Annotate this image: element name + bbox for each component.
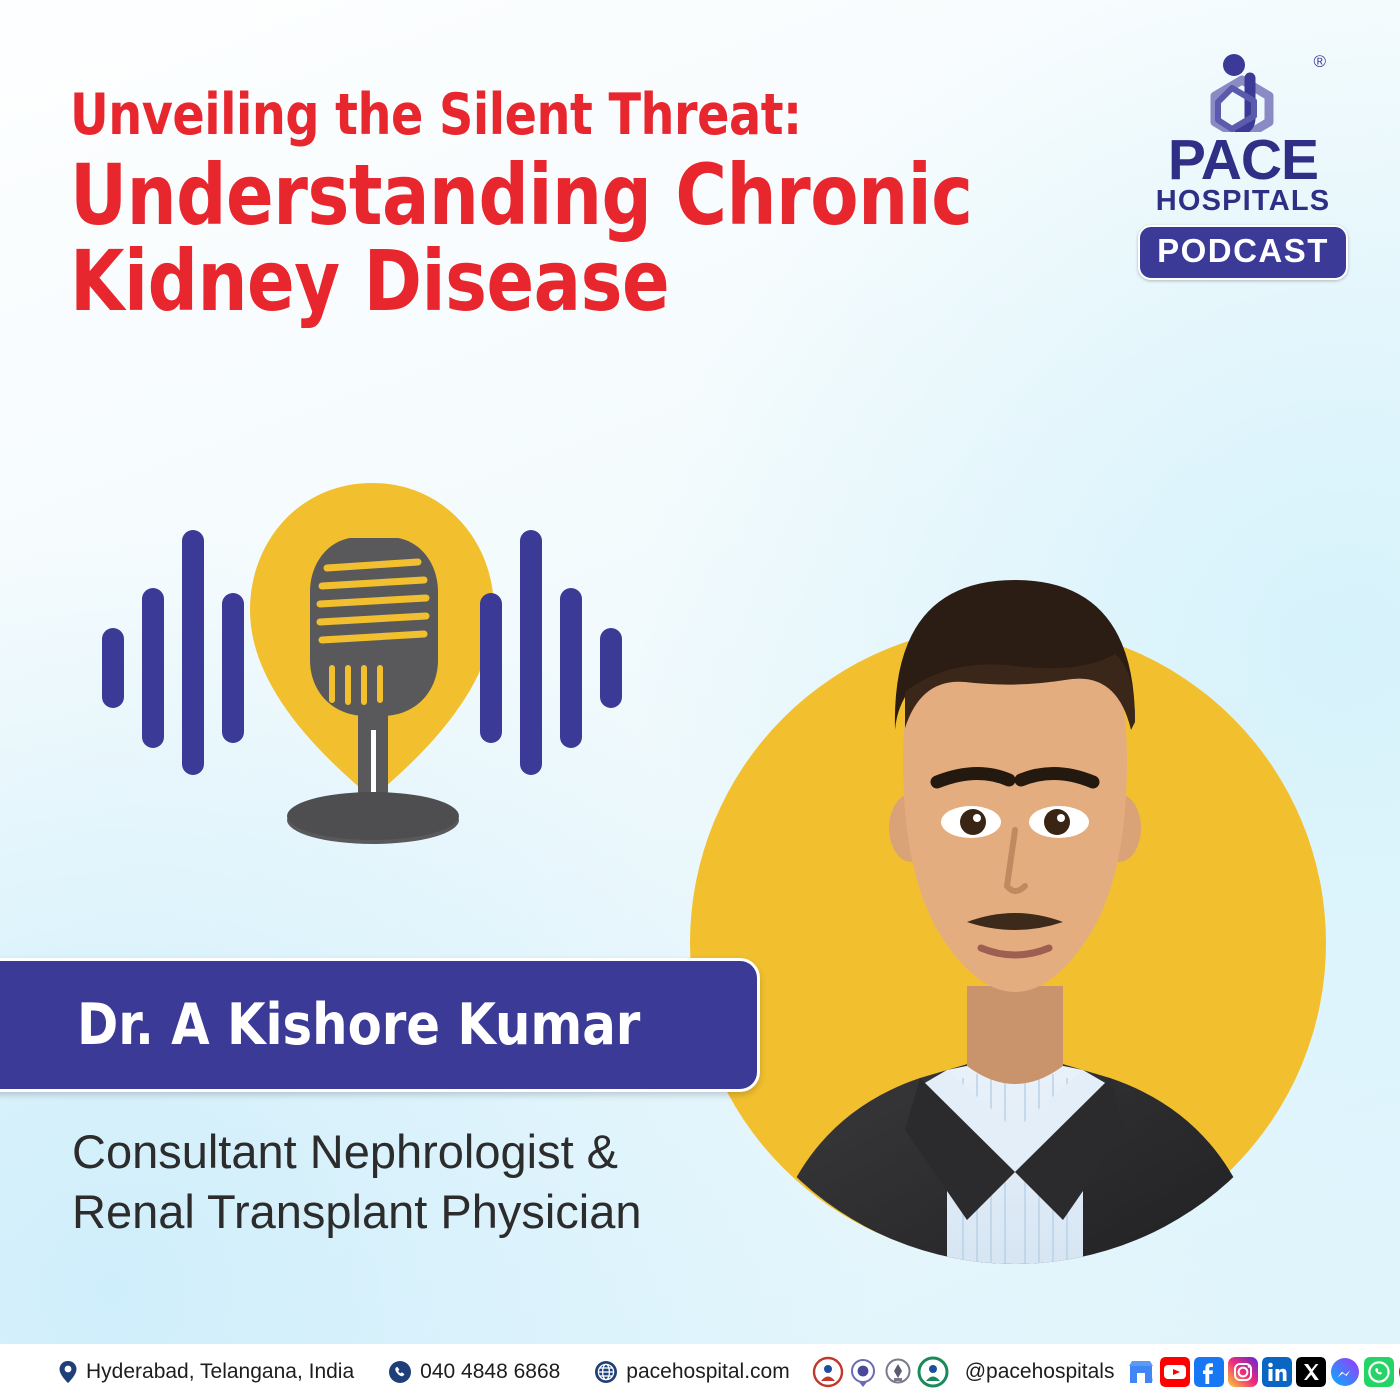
svg-text:G: G [1146, 1374, 1153, 1384]
wave-bar-left-3 [182, 530, 204, 775]
phone-icon [388, 1360, 412, 1384]
headline-line-2: Kidney Disease [70, 240, 1028, 322]
accreditation-seals [812, 1356, 949, 1388]
podcast-badge[interactable]: PODCAST [1138, 225, 1348, 280]
x-twitter-icon[interactable] [1296, 1357, 1326, 1387]
social-links: G [1126, 1357, 1400, 1387]
location-pin-icon [58, 1360, 78, 1384]
speaker-role-line-1: Consultant Nephrologist & [72, 1122, 772, 1182]
speaker-role: Consultant Nephrologist & Renal Transpla… [72, 1122, 772, 1242]
globe-icon [594, 1360, 618, 1384]
speaker-role-line-2: Renal Transplant Physician [72, 1182, 772, 1242]
iso-seal [882, 1356, 914, 1388]
green-accreditation-seal [917, 1356, 949, 1388]
speaker-name-banner: Dr. A Kishore Kumar [0, 958, 760, 1092]
registered-mark: ® [1313, 52, 1326, 72]
podcast-promo-poster: Unveiling the Silent Threat: Understandi… [0, 0, 1400, 1400]
nabh-seal [812, 1356, 844, 1388]
wave-bar-right-4 [600, 628, 622, 708]
youtube-icon[interactable] [1160, 1357, 1190, 1387]
instagram-icon[interactable] [1228, 1357, 1258, 1387]
whatsapp-icon[interactable] [1364, 1357, 1394, 1387]
headline-line-1: Understanding Chronic [70, 154, 1028, 236]
messenger-icon[interactable] [1330, 1357, 1360, 1387]
footer-bar: Hyderabad, Telangana, India 040 4848 686… [0, 1344, 1400, 1400]
headline-block: Unveiling the Silent Threat: Understandi… [70, 88, 1100, 326]
wave-bar-left-1 [102, 628, 124, 708]
footer-website-text: pacehospital.com [626, 1360, 789, 1384]
speaker-name: Dr. A Kishore Kumar [77, 992, 640, 1058]
footer-phone[interactable]: 040 4848 6868 [388, 1360, 560, 1384]
wave-bar-right-1 [480, 593, 502, 743]
wave-bar-right-2 [520, 530, 542, 775]
logo-sub-wordmark: HOSPITALS [1138, 187, 1348, 216]
pace-hospitals-logo[interactable]: ® PACE HOSPITALS PODCAST [1138, 52, 1348, 280]
wave-bar-left-2 [142, 588, 164, 748]
headline-eyebrow: Unveiling the Silent Threat: [70, 88, 1028, 144]
footer-location-text: Hyderabad, Telangana, India [86, 1360, 354, 1384]
footer-location: Hyderabad, Telangana, India [58, 1360, 354, 1384]
google-business-icon[interactable]: G [1126, 1357, 1156, 1387]
podcast-illustration [84, 468, 644, 868]
logo-mark: ® [1138, 52, 1348, 132]
footer-phone-text: 040 4848 6868 [420, 1360, 560, 1384]
nabl-seal [847, 1356, 879, 1388]
facebook-icon[interactable] [1194, 1357, 1224, 1387]
footer-website[interactable]: pacehospital.com [594, 1360, 789, 1384]
social-handle: @pacehospitals [965, 1360, 1115, 1384]
linkedin-icon[interactable] [1262, 1357, 1292, 1387]
doctor-portrait [715, 430, 1315, 1310]
retro-microphone-icon [232, 468, 512, 868]
logo-wordmark: PACE [1138, 134, 1348, 186]
wave-bar-right-3 [560, 588, 582, 748]
